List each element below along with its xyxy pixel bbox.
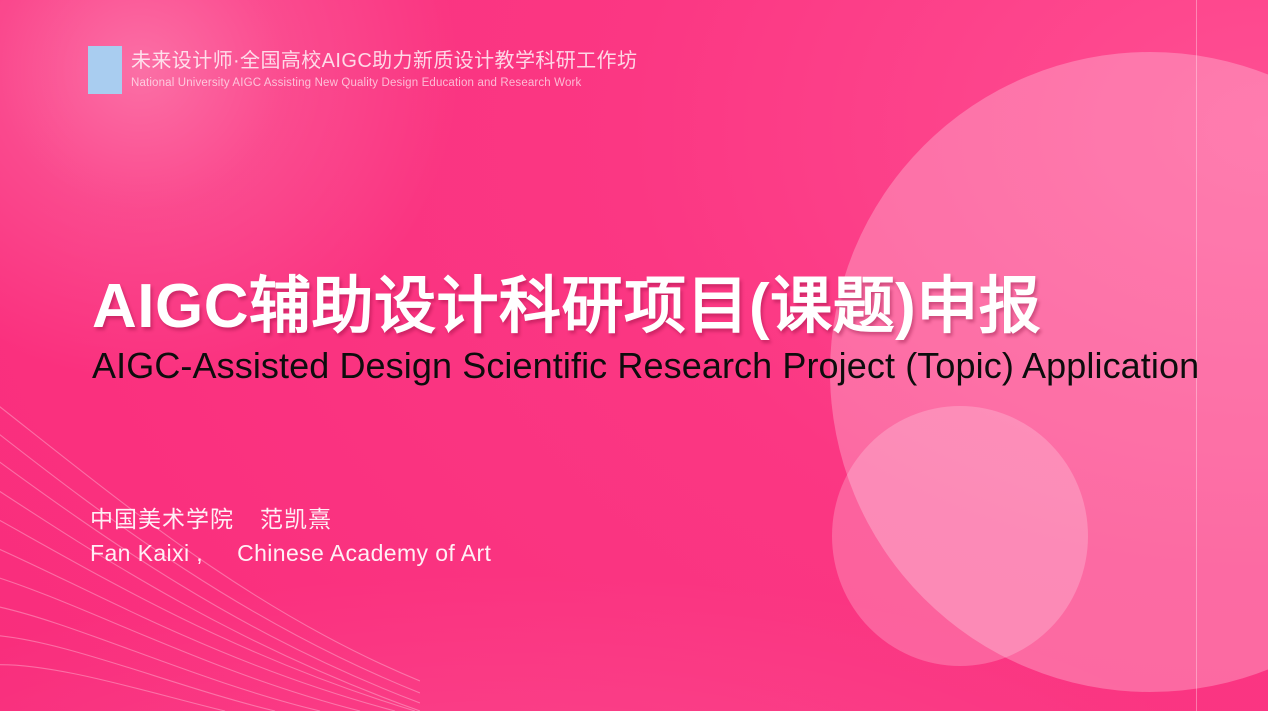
author-line-en: Fan Kaixi ,Chinese Academy of Art [90, 536, 491, 570]
workshop-header-text: 未来设计师·全国高校AIGC助力新质设计教学科研工作坊 National Uni… [131, 46, 637, 94]
title-slide: 未来设计师·全国高校AIGC助力新质设计教学科研工作坊 National Uni… [0, 0, 1268, 711]
main-title-en: AIGC-Assisted Design Scientific Research… [92, 344, 1182, 388]
author-line-cn: 中国美术学院范凯熹 [90, 502, 491, 536]
author-name-cn: 范凯熹 [260, 506, 332, 532]
workshop-title-cn: 未来设计师·全国高校AIGC助力新质设计教学科研工作坊 [131, 48, 637, 74]
author-block: 中国美术学院范凯熹 Fan Kaixi ,Chinese Academy of … [90, 502, 491, 570]
affiliation-cn: 中国美术学院 [90, 506, 234, 532]
main-title-cn: AIGC辅助设计科研项目(课题)申报 [92, 272, 1182, 342]
title-block: AIGC辅助设计科研项目(课题)申报 AIGC-Assisted Design … [92, 272, 1182, 388]
blue-square-logo-icon [88, 46, 122, 94]
author-name-en: Fan Kaixi , [90, 540, 203, 566]
affiliation-en: Chinese Academy of Art [237, 540, 491, 566]
workshop-header: 未来设计师·全国高校AIGC助力新质设计教学科研工作坊 National Uni… [88, 46, 637, 94]
workshop-title-en: National University AIGC Assisting New Q… [131, 74, 637, 92]
